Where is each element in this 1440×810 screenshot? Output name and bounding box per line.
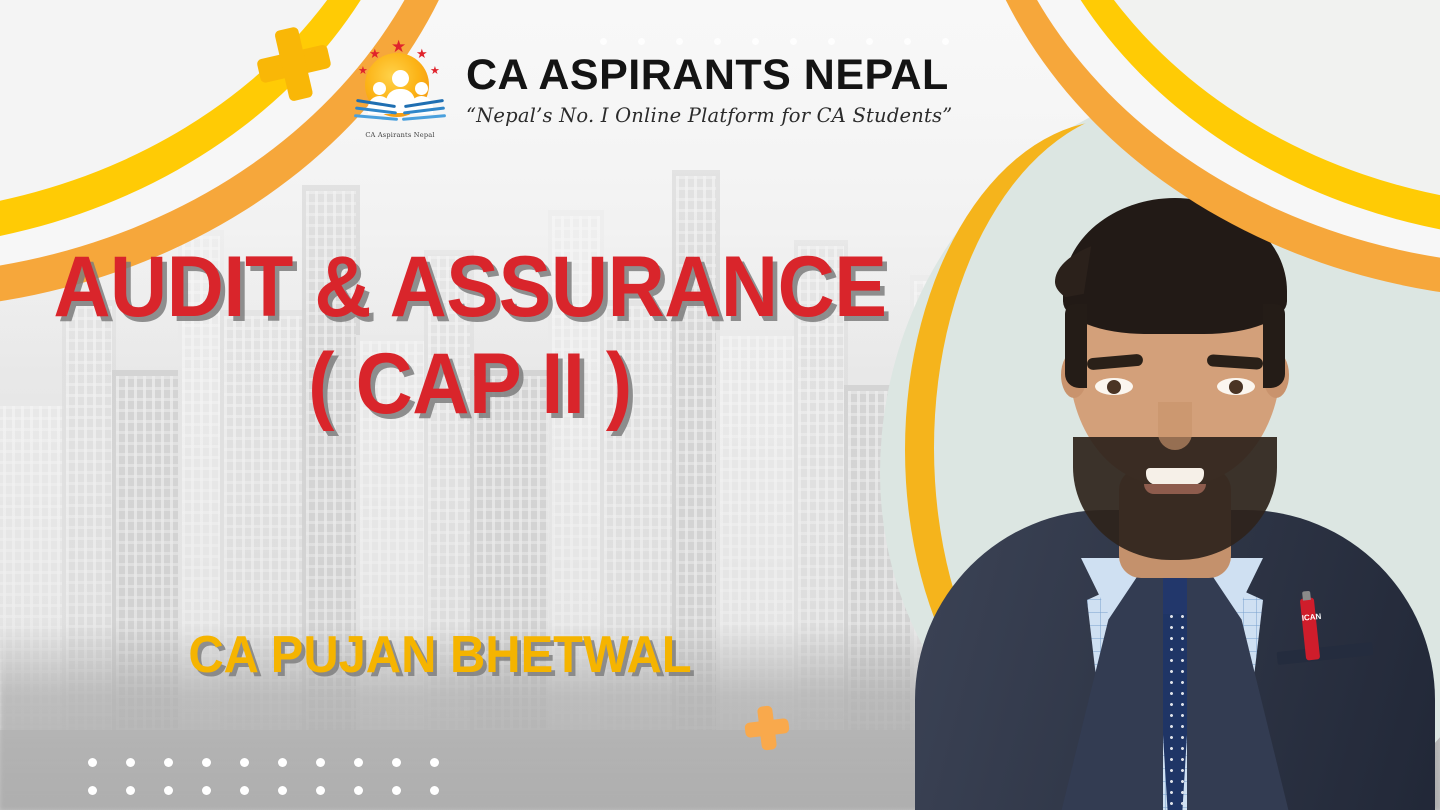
figure-head-left	[373, 82, 386, 95]
star-icon: ★	[416, 47, 428, 60]
eye-right	[1217, 378, 1255, 395]
mouth	[1146, 468, 1204, 485]
eye-left	[1095, 378, 1133, 395]
star-icon: ★	[430, 66, 440, 77]
open-book-icon	[354, 98, 446, 132]
star-icon: ★	[369, 47, 381, 60]
course-title-block: AUDIT & ASSURANCE ( CAP II )	[0, 246, 940, 425]
sideburn-left	[1065, 304, 1087, 388]
presenter-name: CA PUJAN BHETWAL	[26, 625, 853, 685]
figure-head-center	[392, 70, 409, 87]
figure-head-right	[415, 82, 428, 95]
dot-grid-bottom-left	[88, 758, 468, 810]
lower-lip	[1144, 484, 1206, 494]
brand-title: CA ASPIRANTS NEPAL	[466, 54, 952, 97]
star-icon: ★	[358, 66, 368, 77]
brand-header: ★ ★ ★ ★ ★ CA Aspirants Nepal CA ASPIRANT…	[348, 36, 952, 140]
sideburn-right	[1263, 304, 1285, 388]
nose	[1158, 402, 1192, 450]
brand-text-block: CA ASPIRANTS NEPAL “Nepal’s No. I Online…	[466, 36, 952, 127]
plus-icon-small	[742, 703, 791, 752]
course-thumbnail: ICAN	[0, 0, 1440, 810]
course-title-line-2: ( CAP II )	[38, 343, 903, 426]
logo-caption: CA Aspirants Nepal	[362, 131, 438, 139]
brand-tagline: “Nepal’s No. I Online Platform for CA St…	[466, 104, 952, 127]
ca-aspirants-nepal-logo-icon: ★ ★ ★ ★ ★ CA Aspirants Nepal	[348, 36, 452, 140]
star-icon: ★	[391, 38, 406, 55]
course-title-line-1: AUDIT & ASSURANCE	[38, 246, 903, 329]
